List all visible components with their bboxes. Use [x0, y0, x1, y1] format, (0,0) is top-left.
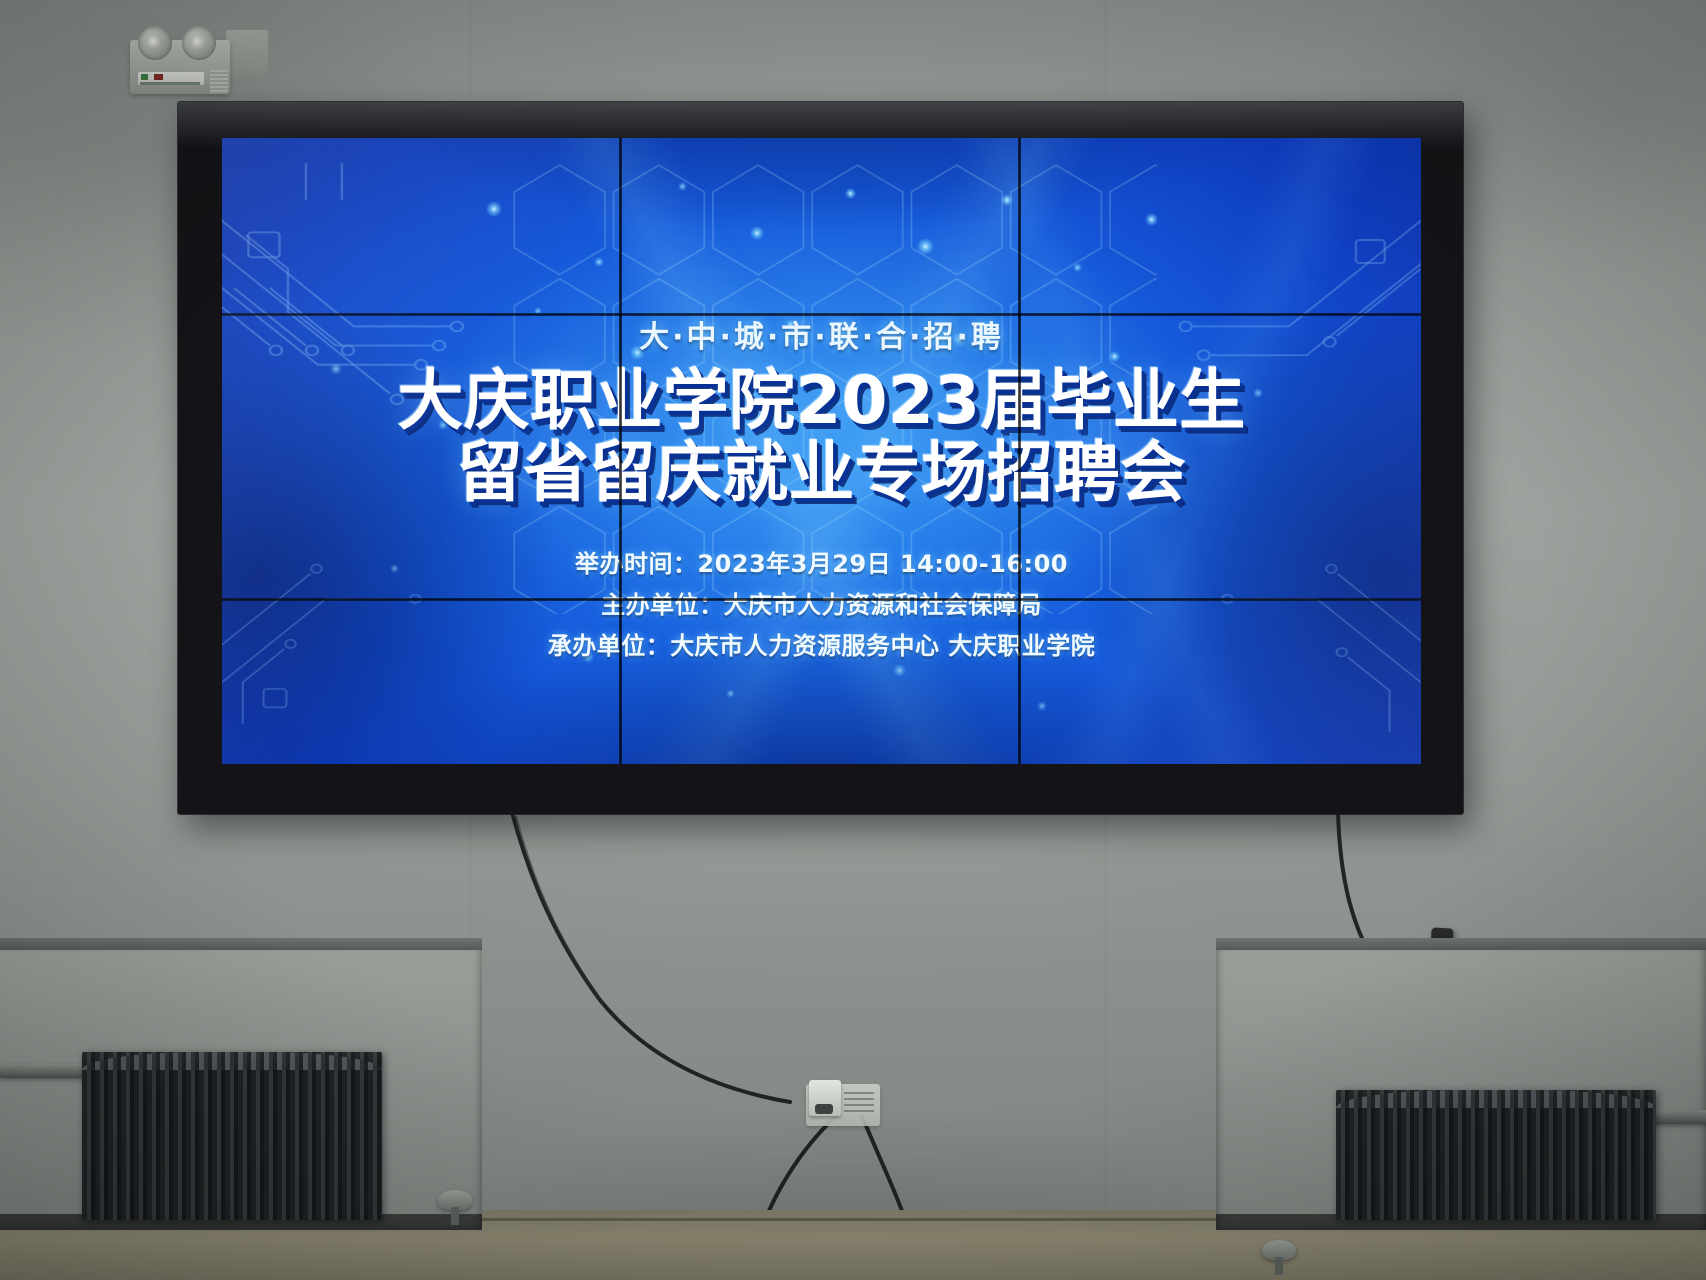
detail-co-organizer: 承办单位：大庆市人力资源服务中心 大庆职业学院: [548, 626, 1095, 661]
led-red-icon: [154, 74, 163, 80]
plug-icon: [809, 1080, 841, 1116]
emergency-light-icon: [130, 22, 242, 94]
light-bracket: [226, 30, 268, 74]
poster-background: 大·中·城·市·联·合·招·聘 大庆职业学院2023届毕业生 留省留庆就业专场招…: [222, 138, 1421, 764]
radiator-left: [82, 1052, 382, 1220]
poster-kicker: 大·中·城·市·联·合·招·聘: [639, 312, 1004, 356]
video-wall-screen[interactable]: 大·中·城·市·联·合·招·聘 大庆职业学院2023届毕业生 留省留庆就业专场招…: [222, 138, 1421, 764]
recess-lip: [0, 938, 482, 950]
headline-line-2: 留省留庆就业专场招聘会: [457, 438, 1187, 508]
radiator-right: [1336, 1090, 1656, 1220]
radiator-valve: [1262, 1240, 1296, 1260]
light-vent: [210, 70, 228, 94]
led-green-icon: [141, 74, 148, 80]
poster-details: 举办时间：2023年3月29日 14:00-16:00 主办单位：大庆市人力资源…: [548, 544, 1095, 661]
heating-pipe: [1648, 1110, 1706, 1124]
panel-seam-vertical: [619, 138, 622, 764]
lamp-head-icon: [182, 26, 216, 60]
lamp-head-icon: [138, 26, 172, 60]
detail-organizer: 主办单位：大庆市人力资源和社会保障局: [601, 585, 1042, 620]
panel-seam-vertical: [1018, 138, 1021, 764]
light-label-text: [140, 82, 200, 85]
poster-content: 大·中·城·市·联·合·招·聘 大庆职业学院2023届毕业生 留省留庆就业专场招…: [222, 138, 1421, 764]
radiator-valve: [438, 1190, 472, 1210]
video-wall[interactable]: 大·中·城·市·联·合·招·聘 大庆职业学院2023届毕业生 留省留庆就业专场招…: [178, 102, 1463, 814]
panel-seam-horizontal: [222, 598, 1421, 601]
room-photo: 大·中·城·市·联·合·招·聘 大庆职业学院2023届毕业生 留省留庆就业专场招…: [0, 0, 1706, 1280]
recess-lip: [1216, 938, 1706, 950]
detail-event-time: 举办时间：2023年3月29日 14:00-16:00: [575, 544, 1068, 579]
outlet-slots-icon: [844, 1092, 874, 1114]
wall-power-outlet[interactable]: [806, 1084, 880, 1126]
headline-line-1: 大庆职业学院2023届毕业生: [397, 366, 1245, 436]
panel-seam-horizontal: [222, 313, 1421, 316]
poster-headline: 大庆职业学院2023届毕业生 留省留庆就业专场招聘会: [397, 366, 1245, 508]
